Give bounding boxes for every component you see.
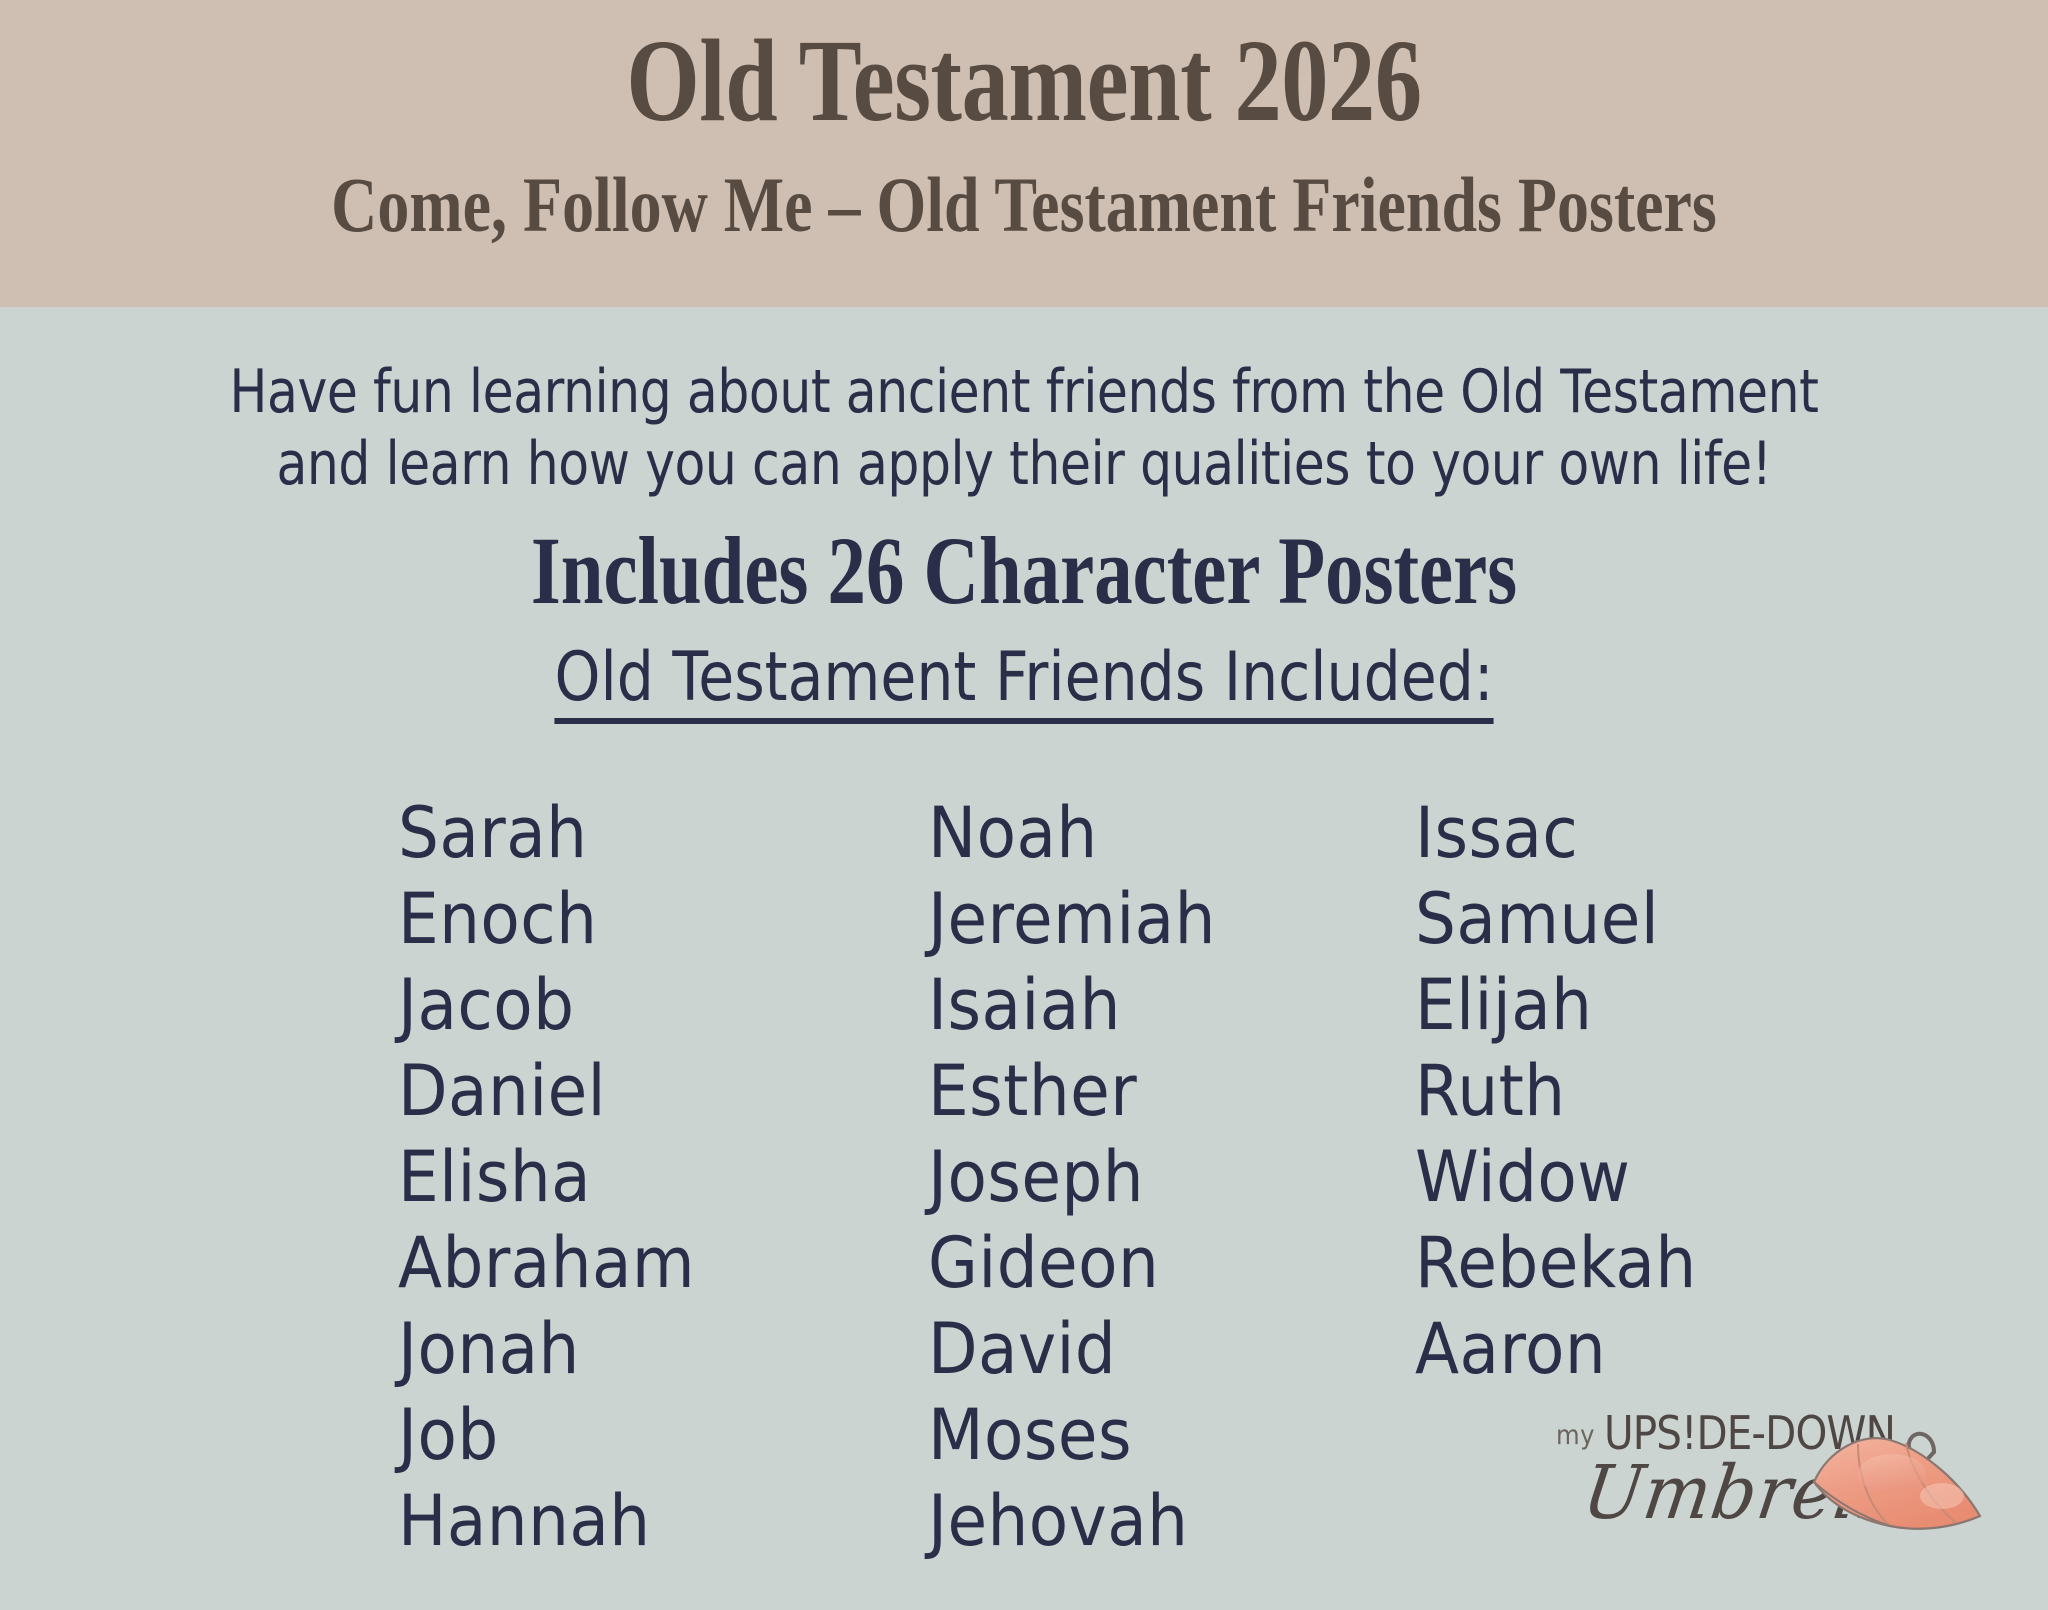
intro-line-1: Have fun learning about ancient friends … [164,356,1884,428]
list-item: Jacob [398,962,695,1048]
list-item: Abraham [398,1220,695,1306]
list-item: Isaiah [928,962,1216,1048]
list-item: Daniel [398,1048,695,1134]
name-column-1: Sarah Enoch Jacob Daniel Elisha Abraham … [398,790,721,1564]
list-item: Jeremiah [928,876,1216,962]
intro-line-2: and learn how you can apply their qualit… [164,428,1884,500]
list-item: Noah [928,790,1216,876]
friends-subheading-wrapper: Old Testament Friends Included: [0,644,2048,724]
list-item: Moses [928,1392,1216,1478]
name-column-2: Noah Jeremiah Isaiah Esther Joseph Gideo… [928,790,1241,1564]
list-item: Rebekah [1415,1220,1697,1306]
list-item: Issac [1415,790,1697,876]
list-item: Jonah [398,1306,695,1392]
list-item: Sarah [398,790,695,876]
list-item: David [928,1306,1216,1392]
list-item: Gideon [928,1220,1216,1306]
list-item: Esther [928,1048,1216,1134]
list-item: Job [398,1392,695,1478]
friends-name-list: Sarah Enoch Jacob Daniel Elisha Abraham … [0,790,2048,1430]
list-item: Joseph [928,1134,1216,1220]
page-title: Old Testament 2026 [205,22,1843,140]
header-band: Old Testament 2026 Come, Follow Me – Old… [0,0,2048,307]
intro-paragraph: Have fun learning about ancient friends … [164,356,1884,500]
list-item: Aaron [1415,1306,1697,1392]
list-item: Elijah [1415,962,1697,1048]
list-item: Hannah [398,1478,695,1564]
logo-prefix-text: my [1556,1420,1595,1451]
poster-canvas: Old Testament 2026 Come, Follow Me – Old… [0,0,2048,1610]
friends-included-subheading: Old Testament Friends Included: [554,644,1493,724]
list-item: Jehovah [928,1478,1216,1564]
list-item: Enoch [398,876,695,962]
page-subtitle: Come, Follow Me – Old Testament Friends … [184,166,1863,244]
list-item: Elisha [398,1134,695,1220]
name-column-3: Issac Samuel Elijah Ruth Widow Rebekah A… [1415,790,1721,1392]
brand-logo: my UPS!DE-DOWN Umbrella [1548,1398,2018,1598]
list-item: Ruth [1415,1048,1697,1134]
umbrella-icon [1784,1416,2014,1566]
list-item: Widow [1415,1134,1697,1220]
includes-count-heading: Includes 26 Character Posters [205,523,1843,619]
list-item: Samuel [1415,876,1697,962]
